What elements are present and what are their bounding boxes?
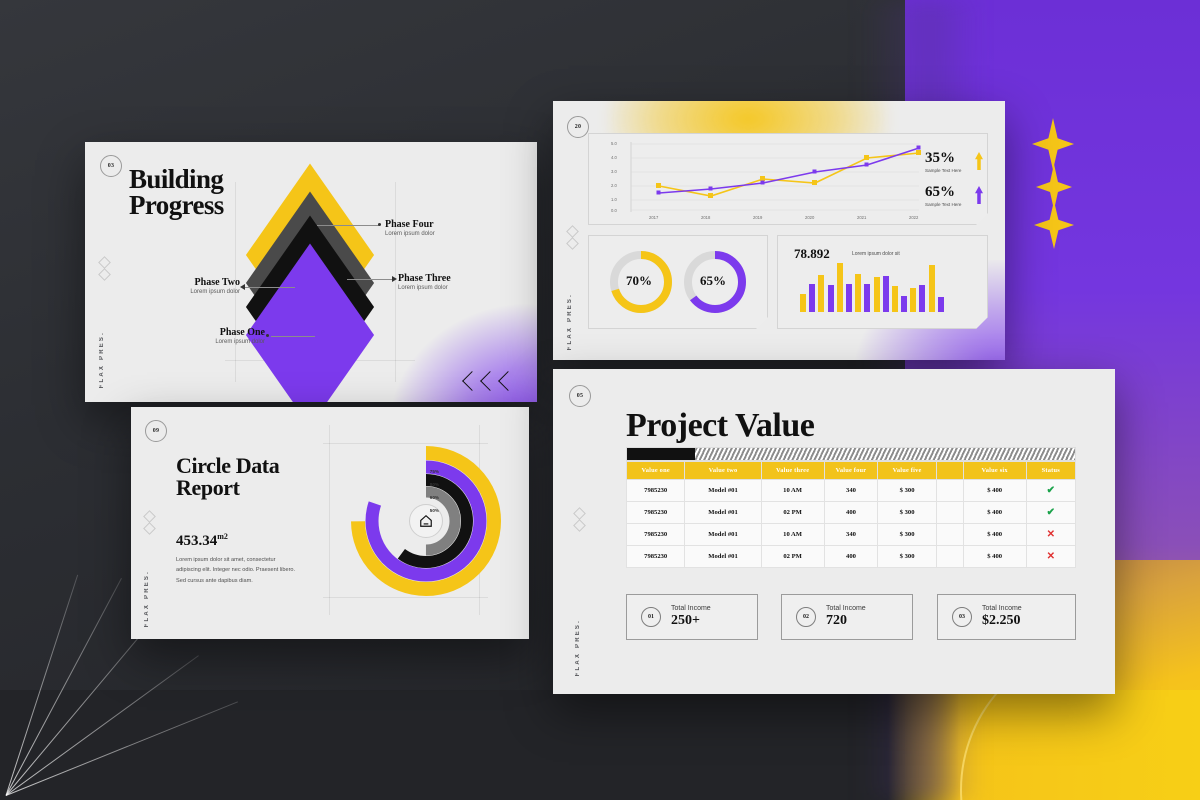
connector-line [245, 287, 295, 288]
page-title: Circle Data Report [176, 455, 279, 500]
connector-dot [266, 334, 269, 337]
phase-sublabel: Lorem ipsum dolor [385, 231, 435, 237]
y-axis-tick: 0.0 [611, 208, 617, 213]
table-cell: 340 [824, 480, 878, 502]
bar-caption: Lorem ipsum dolor sit [852, 251, 900, 257]
phase-label: Phase One [160, 327, 265, 338]
connector-line [347, 279, 395, 280]
bar [874, 277, 880, 312]
table-cell [936, 546, 963, 568]
table-hatch-black-block [627, 448, 695, 460]
table-top-hatch-bar [626, 447, 1076, 461]
chevron-down-left-icon [462, 371, 482, 391]
grid-line [395, 182, 396, 382]
x-axis-tick: 2020 [805, 215, 814, 220]
table-cell-status: ✔ [1026, 480, 1075, 502]
table-cell-status: ✕ [1026, 546, 1075, 568]
chevron-down-left-icon [480, 371, 500, 391]
income-card-label: Total Income [826, 605, 866, 612]
brand-vertical-text: FLAX PRES. [575, 619, 581, 676]
bar [837, 263, 843, 312]
connector-line [271, 336, 315, 337]
kpi-value: 35% [925, 150, 961, 167]
table-column-header: Value one [627, 462, 685, 480]
bar [901, 296, 907, 312]
bar [809, 284, 815, 312]
table-column-header: Value five [878, 462, 936, 480]
slide-number-badge: 09 [145, 420, 167, 442]
decorative-diamonds [100, 258, 109, 279]
table-column-header: Value two [685, 462, 761, 480]
slide-project-value[interactable]: 05 FLAX PRES. Project Value Value oneVal… [553, 369, 1115, 694]
title-line-1: Circle Data [176, 455, 279, 477]
bar-chart [800, 258, 970, 312]
table-cell: 400 [824, 502, 878, 524]
connector-line [317, 225, 379, 226]
table-column-header: Value six [963, 462, 1026, 480]
table-cell: Model #01 [685, 480, 761, 502]
decorative-diamonds [145, 512, 154, 533]
line-chart-svg [589, 134, 987, 224]
label-phase-four: Phase Four Lorem ipsum dolor [385, 219, 435, 237]
table-cell: $ 300 [878, 480, 936, 502]
metric-unit: m2 [217, 532, 228, 541]
kpi-65: 65% Sample Text Here [925, 184, 961, 207]
donut-panel[interactable]: 70% 65% [588, 235, 768, 329]
y-axis-tick: 2.0 [611, 183, 617, 188]
table-column-header: Value three [761, 462, 824, 480]
table-cell: $ 300 [878, 502, 936, 524]
table-column-header: Value four [824, 462, 878, 480]
label-phase-two: Phase Two Lorem ipsum dolor [135, 277, 240, 295]
brand-vertical-text: FLAX PRES. [99, 331, 105, 388]
phase-sublabel: Lorem ipsum dolor [135, 289, 240, 295]
table-cell: $ 400 [963, 546, 1026, 568]
phase-sublabel: Lorem ipsum dolor [398, 285, 451, 291]
slide-number-badge: 03 [100, 155, 122, 177]
connector-dot [378, 223, 381, 226]
table-cell: 02 PM [761, 546, 824, 568]
radial-chart-labels: 75% 80% 60% 50% [423, 469, 439, 521]
income-card-number: 03 [952, 607, 972, 627]
table-row[interactable]: 7985230Model #0110 AM340$ 300$ 400✔ [627, 480, 1076, 502]
table-row[interactable]: 7985230Model #0110 AM340$ 300$ 400✕ [627, 524, 1076, 546]
kpi-sublabel: Sample Text Here [925, 202, 961, 207]
diamond-icon [143, 522, 156, 535]
table-cell [936, 480, 963, 502]
income-card-label: Total Income [671, 605, 711, 612]
y-axis-tick: 1.0 [611, 197, 617, 202]
diamond-icon [566, 225, 579, 238]
slide-circle-data-report[interactable]: 09 FLAX PRES. Circle Data Report 453.34m… [131, 407, 529, 639]
arrow-icon [392, 276, 397, 282]
chevron-arrows-group[interactable] [465, 374, 515, 388]
table-cell-status: ✕ [1026, 524, 1075, 546]
table-cell: $ 400 [963, 480, 1026, 502]
income-card-value: $2.250 [982, 613, 1022, 629]
x-axis-tick: 2017 [649, 215, 658, 220]
bar [919, 285, 925, 312]
bar [855, 274, 861, 312]
bar [818, 275, 824, 312]
radial-label: 50% [423, 508, 439, 521]
table-cell [936, 502, 963, 524]
table-cell: 7985230 [627, 502, 685, 524]
table-cell: 10 AM [761, 524, 824, 546]
slide-number-badge: 20 [567, 116, 589, 138]
income-card-number: 01 [641, 607, 661, 627]
status-check-icon: ✔ [1047, 485, 1055, 496]
phase-sublabel: Lorem ipsum dolor [160, 339, 265, 345]
kpi-sublabel: Sample Text Here [925, 168, 961, 173]
body-text: Lorem ipsum dolor sit amet, consectetur … [176, 555, 296, 586]
slide-dashboard[interactable]: 20 FLAX PRES. [553, 101, 1005, 360]
brand-vertical-text: FLAX PRES. [144, 570, 150, 627]
kpi-35: 35% Sample Text Here [925, 150, 961, 173]
label-phase-three: Phase Three Lorem ipsum dolor [398, 273, 451, 291]
table-cell: Model #01 [685, 502, 761, 524]
table-cell: $ 400 [963, 502, 1026, 524]
bar [828, 285, 834, 312]
grid-line [329, 425, 330, 615]
radial-label: 75% [423, 469, 439, 482]
bar [883, 276, 889, 312]
income-card-label: Total Income [982, 605, 1022, 612]
kpi-value: 65% [925, 184, 961, 201]
table-cell [936, 524, 963, 546]
bar-chart-panel[interactable]: 78.892 Lorem ipsum dolor sit [777, 235, 988, 329]
fan-line [6, 701, 238, 796]
x-axis-tick: 2021 [857, 215, 866, 220]
table-column-header: Status [1026, 462, 1075, 480]
status-cross-icon: ✕ [1047, 529, 1055, 540]
bar [864, 284, 870, 312]
slide-number-badge: 05 [569, 385, 591, 407]
bar [846, 284, 852, 312]
table-cell: 7985230 [627, 546, 685, 568]
table-cell-status: ✔ [1026, 502, 1075, 524]
label-phase-one: Phase One Lorem ipsum dolor [160, 327, 265, 345]
bar [929, 265, 935, 312]
title-line-2: Progress [129, 192, 224, 218]
fan-line [6, 655, 199, 796]
table-cell: 400 [824, 546, 878, 568]
fan-line [6, 575, 79, 796]
status-cross-icon: ✕ [1047, 551, 1055, 562]
table-cell: $ 300 [878, 524, 936, 546]
donut-value-65: 65% [700, 273, 726, 289]
bar [938, 297, 944, 312]
income-card-02[interactable]: 02 Total Income 720 [781, 594, 913, 640]
metric-number: 453.34 [176, 533, 217, 549]
diamond-icon [98, 268, 111, 281]
bar [910, 288, 916, 312]
table-cell: Model #01 [685, 546, 761, 568]
isometric-layer-stack [245, 200, 375, 340]
chevron-down-left-icon [498, 371, 518, 391]
table-cell: $ 400 [963, 524, 1026, 546]
table-cell: $ 300 [878, 546, 936, 568]
decorative-diamonds [568, 227, 577, 248]
diamond-icon [566, 237, 579, 250]
x-axis-tick: 2019 [753, 215, 762, 220]
table-cell: 7985230 [627, 480, 685, 502]
phase-label: Phase Four [385, 219, 435, 230]
table-cell: 10 AM [761, 480, 824, 502]
x-axis-tick: 2018 [701, 215, 710, 220]
phase-label: Phase Three [398, 273, 451, 284]
arrow-icon [240, 284, 245, 290]
diamond-icon [143, 510, 156, 523]
brand-vertical-text: FLAX PRES. [567, 293, 573, 350]
table-body: 7985230Model #0110 AM340$ 300$ 400✔79852… [627, 480, 1076, 568]
title-line-2: Report [176, 477, 279, 499]
radial-label: 60% [423, 495, 439, 508]
table-cell: 340 [824, 524, 878, 546]
radial-label: 80% [423, 482, 439, 495]
table-cell: 02 PM [761, 502, 824, 524]
income-card-number: 02 [796, 607, 816, 627]
status-check-icon: ✔ [1047, 507, 1055, 518]
table-cell: 7985230 [627, 524, 685, 546]
income-card-value: 720 [826, 613, 866, 629]
y-axis-tick: 3.0 [611, 169, 617, 174]
table-cell: Model #01 [685, 524, 761, 546]
diamond-icon [573, 519, 586, 532]
y-axis-tick: 5.0 [611, 141, 617, 146]
diamond-icon [98, 256, 111, 269]
y-axis-tick: 4.0 [611, 155, 617, 160]
income-card-01[interactable]: 01 Total Income 250+ [626, 594, 758, 640]
title-line-1: Building [129, 166, 224, 192]
fan-line [6, 578, 122, 796]
project-value-table[interactable]: Value oneValue twoValue threeValue fourV… [626, 461, 1076, 568]
donut-value-70: 70% [626, 273, 652, 289]
table-row[interactable]: 7985230Model #0102 PM400$ 300$ 400✕ [627, 546, 1076, 568]
slide-building-progress[interactable]: 03 FLAX PRES. Building Progress Phase Fo… [85, 142, 537, 402]
income-card-value: 250+ [671, 613, 711, 629]
bar [800, 294, 806, 312]
line-chart-panel[interactable]: 5.0 4.0 3.0 2.0 1.0 0.0 2017 2018 2019 2… [588, 133, 988, 225]
radial-bar-chart[interactable]: 75% 80% 60% 50% [341, 429, 511, 609]
table-column-header [936, 462, 963, 480]
page-title: Building Progress [129, 166, 224, 219]
bar [892, 286, 898, 312]
table-row[interactable]: 7985230Model #0102 PM400$ 300$ 400✔ [627, 502, 1076, 524]
phase-label: Phase Two [135, 277, 240, 288]
page-title: Project Value [626, 407, 814, 445]
income-card-03[interactable]: 03 Total Income $2.250 [937, 594, 1076, 640]
diamond-icon [573, 507, 586, 520]
x-axis-tick: 2022 [909, 215, 918, 220]
table-header-row: Value oneValue twoValue threeValue fourV… [627, 462, 1076, 480]
metric-value: 453.34m2 [176, 532, 228, 550]
decorative-diamonds [575, 509, 584, 530]
donut-charts-svg [589, 236, 767, 328]
